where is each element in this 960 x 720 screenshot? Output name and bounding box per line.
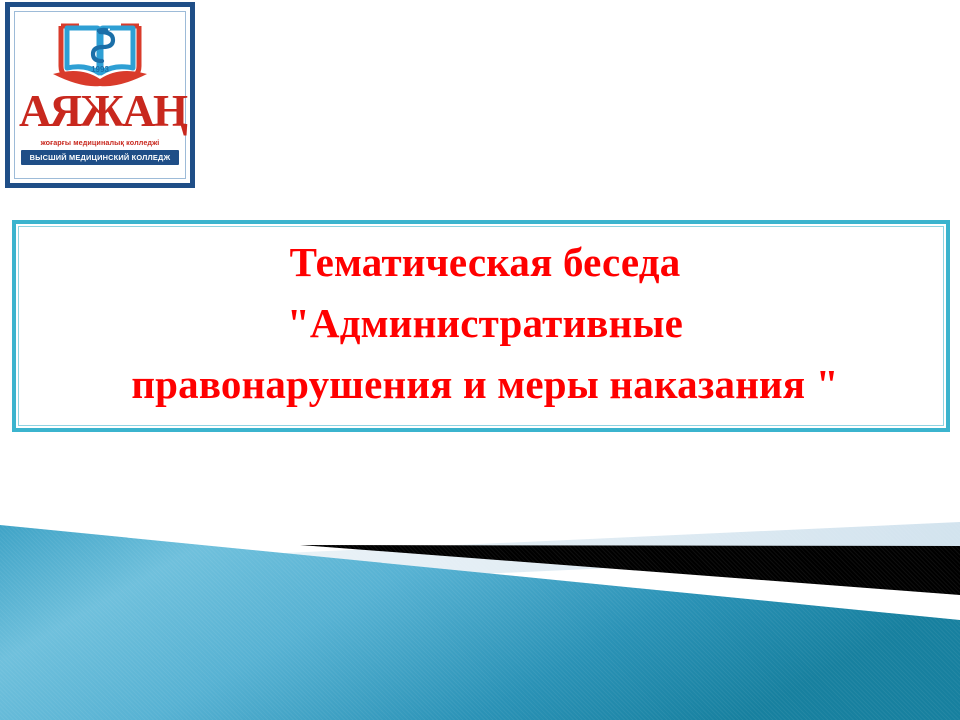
- logo-wordmark: АЯЖАҢ: [19, 88, 181, 134]
- presentation-slide: 1993 АЯЖАҢ жоғарғы медициналық колледжі …: [0, 0, 960, 720]
- page-title: Тематическая беседа "Административные пр…: [2, 232, 960, 415]
- logo-emblem: 1993: [41, 16, 159, 94]
- logo-russian-subtitle: ВЫСШИЙ МЕДИЦИНСКИЙ КОЛЛЕДЖ: [21, 150, 179, 165]
- logo-kazakh-subtitle: жоғарғы медициналық колледжі: [19, 138, 181, 147]
- footer-decoration: [0, 500, 960, 720]
- logo-artwork: 1993 АЯЖАҢ жоғарғы медициналық колледжі …: [19, 14, 181, 176]
- slide-title-box: Тематическая беседа "Административные пр…: [12, 220, 950, 432]
- logo-year: 1993: [91, 65, 109, 74]
- logo-russian-bar: ВЫСШИЙ МЕДИЦИНСКИЙ КОЛЛЕДЖ: [21, 150, 179, 165]
- college-logo: 1993 АЯЖАҢ жоғарғы медициналық колледжі …: [5, 2, 195, 188]
